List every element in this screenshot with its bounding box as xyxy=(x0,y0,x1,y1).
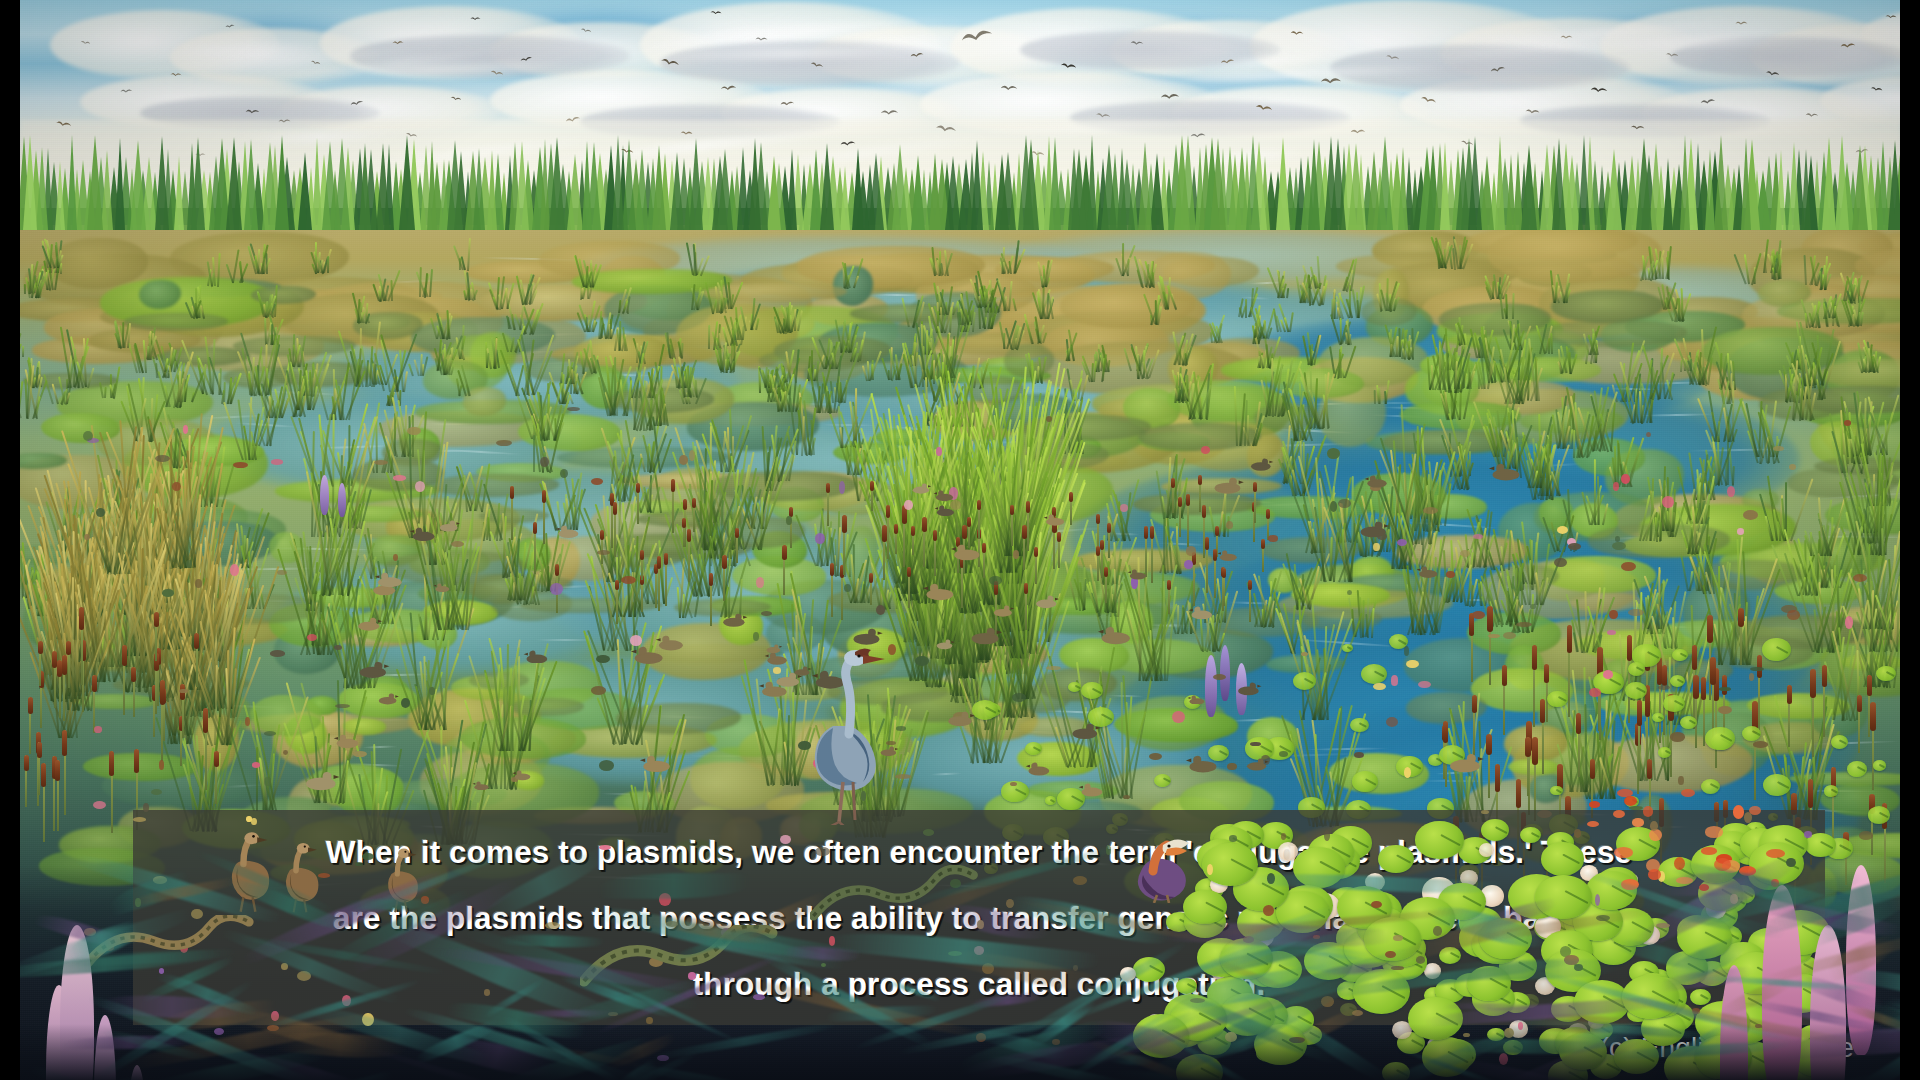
grass-blade xyxy=(229,378,231,404)
cattail-head xyxy=(636,483,640,493)
duck xyxy=(1217,547,1238,558)
cattail-head xyxy=(1810,669,1816,698)
tree xyxy=(67,135,77,230)
cattail-head xyxy=(1026,501,1030,513)
flying-bird xyxy=(470,16,481,22)
grass-tuft xyxy=(1666,648,1667,649)
small-creature xyxy=(133,817,145,822)
duck xyxy=(1097,626,1133,645)
grass-tuft xyxy=(1824,651,1825,652)
grass-tuft xyxy=(1261,338,1262,339)
grass-tuft xyxy=(1363,636,1364,637)
cattail xyxy=(78,607,86,686)
cattail-head xyxy=(1443,721,1449,743)
tree xyxy=(945,156,961,230)
lily-pad xyxy=(1847,761,1867,776)
cattail-head xyxy=(1248,580,1252,590)
cattail xyxy=(669,479,677,533)
cattail-head xyxy=(38,641,43,655)
tree xyxy=(515,141,529,230)
duck xyxy=(1358,521,1390,538)
lily-pad xyxy=(1628,662,1645,676)
grass-tuft xyxy=(1678,320,1679,321)
tree xyxy=(689,138,703,230)
small-creature xyxy=(1149,753,1162,760)
grass-tuft xyxy=(1602,450,1603,451)
tree xyxy=(1068,148,1080,230)
cattail-head xyxy=(1532,645,1537,670)
cattail-head xyxy=(922,517,927,532)
grass-tuft xyxy=(1724,441,1725,442)
cattail-head xyxy=(782,545,787,560)
flying-bird xyxy=(1590,85,1609,95)
grass-tuft xyxy=(59,403,60,404)
cattail-head xyxy=(37,742,42,758)
grass-tuft xyxy=(52,289,53,290)
small-creature xyxy=(1423,507,1438,514)
grass-tuft xyxy=(754,528,755,529)
grass-tuft xyxy=(170,406,171,407)
grass-tuft xyxy=(893,379,894,380)
grass-tuft xyxy=(261,445,262,446)
grass-tuft xyxy=(502,308,503,309)
grass-tuft xyxy=(691,309,692,310)
grass-tuft xyxy=(782,784,783,785)
water-ripple xyxy=(1108,694,1145,697)
blossom xyxy=(1662,496,1674,508)
grass-tuft xyxy=(616,415,617,416)
lily-pad xyxy=(1154,774,1171,787)
grass-tuft xyxy=(1883,650,1884,651)
cattail xyxy=(1220,568,1228,606)
grass-tuft xyxy=(1697,590,1698,591)
grass-blade xyxy=(1339,352,1342,378)
flying-bird xyxy=(1840,41,1857,50)
grass-tuft xyxy=(1649,540,1650,541)
cattail-head xyxy=(542,490,546,503)
grass-tuft xyxy=(587,286,588,287)
cattail-head xyxy=(735,528,739,538)
cattail-head xyxy=(1266,509,1270,519)
tree xyxy=(911,155,925,230)
cattail xyxy=(828,563,836,616)
grass-tuft xyxy=(1803,419,1804,420)
cattail xyxy=(108,751,116,833)
cattail xyxy=(905,567,913,608)
grass-tuft xyxy=(1120,798,1121,799)
grass-tuft xyxy=(1369,555,1370,556)
grass-tuft xyxy=(751,329,752,330)
grass-blade xyxy=(733,342,736,372)
grass-tuft xyxy=(1507,624,1508,625)
grass-tuft xyxy=(1281,297,1282,298)
cattail xyxy=(508,486,516,540)
cattail-head xyxy=(1576,713,1582,734)
grass-tuft xyxy=(1655,780,1656,781)
duck xyxy=(512,767,532,778)
cattail-head xyxy=(640,550,644,560)
grass-tuft xyxy=(1414,543,1415,544)
lily-pad xyxy=(1481,819,1509,841)
grass-tuft xyxy=(1118,540,1119,541)
grass-tuft xyxy=(1208,650,1209,651)
cattail-head xyxy=(24,755,29,771)
grass-tuft xyxy=(1578,457,1579,458)
grass-blade xyxy=(1143,350,1145,378)
grass-tuft xyxy=(77,387,78,388)
moss-mat xyxy=(343,718,386,735)
cattail xyxy=(1820,665,1828,737)
grass-tuft xyxy=(183,567,184,568)
red-bloom xyxy=(1705,826,1723,837)
small-creature xyxy=(1123,795,1130,799)
grass-tuft xyxy=(848,287,849,288)
cattail-head xyxy=(66,641,71,655)
grass-tuft xyxy=(202,650,203,651)
grass-tuft xyxy=(358,687,359,688)
tree xyxy=(1440,142,1450,230)
cattail-head xyxy=(664,553,668,566)
grass-tuft xyxy=(1352,317,1353,318)
duck xyxy=(555,524,580,537)
grass-tuft xyxy=(690,396,691,397)
tree xyxy=(787,149,797,230)
cattail xyxy=(1855,695,1863,753)
tree xyxy=(1852,145,1868,230)
small-creature xyxy=(1046,416,1052,422)
cattail xyxy=(1865,675,1873,737)
grass-tuft xyxy=(968,612,969,613)
tree xyxy=(868,153,884,230)
duck xyxy=(1043,512,1066,524)
grass-tuft xyxy=(966,677,967,678)
grass-tuft xyxy=(443,338,444,339)
duck xyxy=(433,578,451,587)
duck xyxy=(992,603,1015,615)
grass-tuft xyxy=(1421,634,1422,635)
grass-tuft xyxy=(451,629,452,630)
grass-tuft xyxy=(417,375,418,376)
grass-tuft xyxy=(213,393,214,394)
grass-tuft xyxy=(628,616,629,617)
tree xyxy=(23,135,37,230)
cattail-head xyxy=(657,556,661,569)
grass-tuft xyxy=(1171,308,1172,309)
cattail-head xyxy=(600,530,604,540)
small-creature xyxy=(429,687,435,696)
cattail xyxy=(690,498,698,532)
blossom xyxy=(1184,560,1193,569)
small-creature xyxy=(1612,542,1626,551)
duck xyxy=(1127,566,1148,577)
grass-tuft xyxy=(102,681,103,682)
cattail-head xyxy=(977,500,981,510)
cattail-head xyxy=(830,563,834,576)
grass-tuft xyxy=(942,332,943,333)
duck xyxy=(721,613,748,627)
cattail-head xyxy=(1096,546,1100,556)
cattail-head xyxy=(869,573,873,583)
duck xyxy=(969,627,1003,645)
cattail-head xyxy=(1186,494,1190,507)
cattail-head xyxy=(1692,645,1697,670)
cattail-head xyxy=(907,567,911,577)
grass-tuft xyxy=(1382,551,1383,552)
grass-tuft xyxy=(431,729,432,730)
cattail-head xyxy=(1096,514,1100,524)
grass-tuft xyxy=(1105,612,1106,613)
flying-bird xyxy=(1160,92,1180,103)
cattail-head xyxy=(1693,675,1699,699)
cattail xyxy=(1486,606,1494,684)
cattail-head xyxy=(555,564,559,576)
flying-bird xyxy=(1320,76,1342,87)
tree xyxy=(155,136,169,230)
tree xyxy=(1308,139,1320,230)
cattail xyxy=(1148,526,1156,584)
grass-tuft xyxy=(274,417,275,418)
small-creature xyxy=(451,541,464,547)
grass-blade xyxy=(1127,259,1130,276)
small-creature xyxy=(1186,546,1197,555)
flying-bird xyxy=(245,108,260,116)
tree xyxy=(399,135,415,230)
grass-tuft xyxy=(650,512,651,513)
lily-pad xyxy=(1415,821,1463,859)
cattail-head xyxy=(1822,665,1827,687)
cattail xyxy=(1032,547,1040,584)
tree xyxy=(635,149,649,230)
grass-tuft xyxy=(1666,536,1667,537)
grass-tuft xyxy=(1813,385,1814,386)
blossom xyxy=(94,726,103,733)
duck xyxy=(630,646,665,665)
grass-tuft xyxy=(641,397,642,398)
cattail-head xyxy=(214,751,219,767)
tree xyxy=(101,150,113,230)
cattail xyxy=(931,530,939,576)
grass-tuft xyxy=(940,275,941,276)
cattail-head xyxy=(1167,580,1171,590)
blossom xyxy=(1418,681,1431,688)
cattail-head xyxy=(203,708,208,733)
tree xyxy=(1398,147,1408,230)
grass-tuft xyxy=(1438,389,1439,390)
tree xyxy=(36,147,48,230)
cattail-head xyxy=(109,751,114,776)
tree xyxy=(1210,138,1226,230)
small-creature xyxy=(1354,752,1364,758)
lotus-flower xyxy=(1479,843,1494,857)
tree xyxy=(1049,137,1061,230)
grass-tuft xyxy=(1181,402,1182,403)
grass-tuft xyxy=(379,383,380,384)
grass-tuft xyxy=(329,802,330,803)
blossom xyxy=(1120,504,1128,512)
forest-treeline xyxy=(20,118,1900,230)
grass-tuft xyxy=(1080,766,1081,767)
small-creature xyxy=(335,704,350,708)
small-creature xyxy=(355,862,363,867)
small-creature xyxy=(1330,501,1337,511)
lily-pad xyxy=(1378,845,1414,873)
tree xyxy=(717,149,733,230)
grass-tuft xyxy=(1734,664,1735,665)
small-creature xyxy=(1227,763,1236,770)
cattail xyxy=(1737,608,1745,665)
duck xyxy=(374,572,404,588)
grass-tuft xyxy=(1877,686,1878,687)
grass-tuft xyxy=(152,359,153,360)
duck xyxy=(438,518,461,530)
grass-tuft xyxy=(26,417,27,418)
cattail xyxy=(1102,567,1110,604)
lily-pad xyxy=(1663,695,1685,712)
tree xyxy=(670,152,684,230)
small-creature xyxy=(277,570,287,575)
small-creature xyxy=(1670,732,1686,742)
cattail-head xyxy=(671,479,675,492)
tree xyxy=(1636,138,1652,230)
duck xyxy=(409,527,437,542)
duck xyxy=(1236,682,1262,696)
grass-tuft xyxy=(503,788,504,789)
grass-tuft xyxy=(642,429,643,430)
flying-bird xyxy=(1130,40,1144,48)
tree xyxy=(852,148,864,230)
small-creature xyxy=(923,829,935,836)
cattail-head xyxy=(1022,525,1027,539)
tree xyxy=(1835,135,1849,230)
blossom xyxy=(1201,446,1210,454)
grass-tuft xyxy=(1810,284,1811,285)
tree xyxy=(1246,135,1260,230)
cattail-head xyxy=(62,730,67,755)
duck xyxy=(1185,755,1219,773)
blossom xyxy=(1603,670,1613,679)
grass-tuft xyxy=(791,331,792,332)
grass-tuft xyxy=(1313,288,1314,289)
grass-tuft xyxy=(1297,495,1298,496)
cattail xyxy=(1067,492,1075,525)
flying-bird xyxy=(392,40,404,46)
tree xyxy=(1552,138,1566,230)
small-creature xyxy=(876,605,885,615)
flying-bird xyxy=(1000,84,1018,94)
flying-bird xyxy=(720,83,738,93)
grass-tuft xyxy=(585,298,586,299)
small-creature xyxy=(1658,685,1670,690)
grass-tuft xyxy=(1458,268,1459,269)
grass-blade xyxy=(708,325,710,349)
marsh-ground xyxy=(20,225,1900,1080)
cattail-head xyxy=(1024,583,1028,594)
grass-blade xyxy=(1390,329,1392,357)
grass-tuft xyxy=(227,403,228,404)
cattail xyxy=(1500,665,1508,735)
tree xyxy=(55,161,65,230)
tree xyxy=(767,156,781,230)
cattail-head xyxy=(1215,526,1219,536)
small-creature xyxy=(1787,610,1800,620)
duck xyxy=(922,583,956,601)
tree xyxy=(1138,142,1152,230)
cattail-head xyxy=(533,522,537,534)
lily-pad xyxy=(1520,827,1541,843)
cattail xyxy=(1259,539,1267,572)
small-creature xyxy=(334,645,342,650)
blossom xyxy=(815,533,825,544)
grass-tuft xyxy=(1847,300,1848,301)
grass-blade xyxy=(1529,560,1531,605)
cattail xyxy=(1868,794,1876,855)
small-creature xyxy=(1327,448,1340,459)
grass-tuft xyxy=(402,456,403,457)
cattail-head xyxy=(826,483,830,493)
grass-tuft xyxy=(381,472,382,473)
small-creature xyxy=(162,589,174,597)
grass-tuft xyxy=(1647,279,1648,280)
tree xyxy=(549,137,565,230)
screenshot-root: When it comes to plasmids, we often enco… xyxy=(0,0,1920,1080)
lily-pad xyxy=(1550,786,1562,796)
grass-tuft xyxy=(1858,455,1859,456)
grass-tuft xyxy=(87,661,88,662)
grass-tuft xyxy=(108,397,109,398)
grass-tuft xyxy=(271,344,272,345)
grass-tuft xyxy=(1564,550,1565,551)
grass-tuft xyxy=(1500,625,1501,626)
cattail-head xyxy=(1472,695,1477,713)
grass-tuft xyxy=(1096,381,1097,382)
grass-tuft xyxy=(1546,352,1547,353)
cattail xyxy=(1203,537,1211,593)
blossom xyxy=(271,459,282,464)
grass-tuft xyxy=(1586,652,1587,653)
flower-spike xyxy=(1205,655,1217,717)
small-creature xyxy=(1250,742,1260,747)
grass-tuft xyxy=(525,394,526,395)
grass-tuft xyxy=(513,599,514,600)
tree xyxy=(1468,136,1482,230)
grass-tuft xyxy=(827,412,828,413)
blossom xyxy=(839,481,845,493)
blossom xyxy=(1373,543,1379,552)
small-creature xyxy=(1301,652,1308,656)
cattail xyxy=(152,612,160,662)
tree xyxy=(652,145,666,230)
blossom xyxy=(1845,616,1853,629)
tree xyxy=(359,143,371,230)
cattail-head xyxy=(722,555,727,569)
grass-tuft xyxy=(603,338,604,339)
grass-blade xyxy=(256,747,258,811)
cattail xyxy=(22,755,30,807)
cattail-head xyxy=(1532,737,1538,765)
grass-tuft xyxy=(1668,308,1669,309)
flying-bird xyxy=(710,10,722,17)
wetland-illustration: When it comes to plasmids, we often enco… xyxy=(20,0,1900,1080)
cattail-head xyxy=(1034,547,1038,557)
grass-blade xyxy=(266,368,268,395)
cattail-head xyxy=(154,612,159,627)
grass-tuft xyxy=(628,743,629,744)
blossom xyxy=(550,583,563,595)
grass-tuft xyxy=(657,425,658,426)
grass-tuft xyxy=(921,386,922,387)
grass-tuft xyxy=(952,663,953,664)
grass-tuft xyxy=(1813,327,1814,328)
